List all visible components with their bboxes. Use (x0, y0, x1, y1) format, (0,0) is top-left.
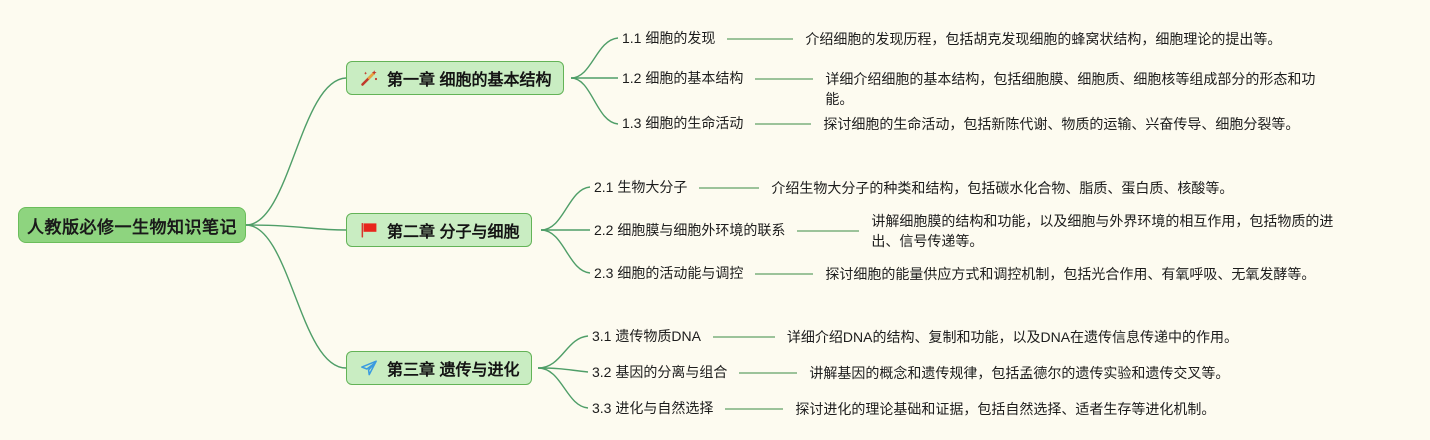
branch-2-3-desc: 探讨细胞的能量供应方式和调控机制，包括光合作用、有氧呼吸、无氧发酵等。 (825, 264, 1365, 284)
branch-3-1-desc: 详细介绍DNA的结构、复制和功能，以及DNA在遗传信息传递中的作用。 (787, 327, 1307, 347)
root-node[interactable]: 人教版必修一生物知识笔记 (18, 207, 246, 243)
branch-3-1[interactable]: 3.1 遗传物质DNA 详细介绍DNA的结构、复制和功能，以及DNA在遗传信息传… (592, 327, 1307, 347)
chapter-node-1-label: 第一章 细胞的基本结构 (387, 66, 551, 90)
branch-2-1-desc: 介绍生物大分子的种类和结构，包括碳水化合物、脂质、蛋白质、核酸等。 (771, 178, 1291, 198)
branch-3-3-label: 3.3 进化与自然选择 (592, 399, 713, 417)
chapter-node-2[interactable]: 第二章 分子与细胞 (346, 213, 532, 247)
branch-1-3[interactable]: 1.3 细胞的生命活动 探讨细胞的生命活动，包括新陈代谢、物质的运输、兴奋传导、… (622, 114, 1363, 134)
link-ch3-b3 (538, 368, 588, 408)
branch-3-3[interactable]: 3.3 进化与自然选择 探讨进化的理论基础和证据，包括自然选择、适者生存等进化机… (592, 399, 1295, 419)
branch-1-1[interactable]: 1.1 细胞的发现 介绍细胞的发现历程，包括胡克发现细胞的蜂窝状结构，细胞理论的… (622, 29, 1345, 49)
chapter-node-1[interactable]: 第一章 细胞的基本结构 (346, 61, 564, 95)
branch-2-2-desc: 讲解细胞膜的结构和功能，以及细胞与外界环境的相互作用，包括物质的进出、信号传递等… (871, 211, 1341, 251)
branch-1-2-desc: 详细介绍细胞的基本结构，包括细胞膜、细胞质、细胞核等组成部分的形态和功能。 (825, 69, 1323, 109)
branch-3-1-connector (713, 327, 775, 345)
branch-1-2-connector (755, 69, 813, 87)
branch-3-2-connector (739, 363, 797, 381)
branch-1-3-label: 1.3 细胞的生命活动 (622, 114, 743, 132)
branch-1-3-connector (755, 114, 811, 132)
magic-wand-icon (359, 68, 379, 88)
branch-2-3-label: 2.3 细胞的活动能与调控 (594, 264, 743, 282)
link-ch3-b1 (538, 336, 588, 368)
branch-1-2[interactable]: 1.2 细胞的基本结构 详细介绍细胞的基本结构，包括细胞膜、细胞质、细胞核等组成… (622, 69, 1323, 109)
link-root-ch3 (246, 225, 346, 368)
link-ch2-b1 (541, 187, 590, 230)
chapter-node-2-label: 第二章 分子与细胞 (387, 218, 519, 242)
link-ch3-b2 (538, 368, 588, 372)
chapter-node-3[interactable]: 第三章 遗传与进化 (346, 351, 532, 385)
link-ch1-b1 (571, 38, 618, 78)
branch-2-1-label: 2.1 生物大分子 (594, 178, 687, 196)
branch-1-2-label: 1.2 细胞的基本结构 (622, 69, 743, 87)
branch-2-1[interactable]: 2.1 生物大分子 介绍生物大分子的种类和结构，包括碳水化合物、脂质、蛋白质、核… (594, 178, 1291, 198)
branch-2-2[interactable]: 2.2 细胞膜与细胞外环境的联系 讲解细胞膜的结构和功能，以及细胞与外界环境的相… (594, 221, 1341, 251)
link-root-ch1 (246, 78, 346, 225)
root-node-label: 人教版必修一生物知识笔记 (27, 213, 237, 238)
branch-3-3-desc: 探讨进化的理论基础和证据，包括自然选择、适者生存等进化机制。 (795, 399, 1295, 419)
link-root-ch2 (246, 225, 346, 230)
branch-1-3-desc: 探讨细胞的生命活动，包括新陈代谢、物质的运输、兴奋传导、细胞分裂等。 (823, 114, 1363, 134)
branch-2-2-label: 2.2 细胞膜与细胞外环境的联系 (594, 221, 785, 239)
branch-1-1-desc: 介绍细胞的发现历程，包括胡克发现细胞的蜂窝状结构，细胞理论的提出等。 (805, 29, 1345, 49)
branch-2-3[interactable]: 2.3 细胞的活动能与调控 探讨细胞的能量供应方式和调控机制，包括光合作用、有氧… (594, 264, 1365, 284)
branch-2-2-connector (797, 221, 859, 239)
branch-2-1-connector (699, 178, 759, 196)
branch-3-1-label: 3.1 遗传物质DNA (592, 327, 701, 345)
link-ch2-b3 (541, 230, 590, 273)
branch-3-2-desc: 讲解基因的概念和遗传规律，包括孟德尔的遗传实验和遗传交叉等。 (809, 363, 1309, 383)
branch-3-2[interactable]: 3.2 基因的分离与组合 讲解基因的概念和遗传规律，包括孟德尔的遗传实验和遗传交… (592, 363, 1309, 383)
branch-3-2-label: 3.2 基因的分离与组合 (592, 363, 727, 381)
branch-1-1-connector (727, 29, 793, 47)
chapter-node-3-label: 第三章 遗传与进化 (387, 356, 519, 380)
paper-plane-icon (359, 358, 379, 378)
branch-2-3-connector (755, 264, 813, 282)
branch-3-3-connector (725, 399, 783, 417)
link-ch1-b3 (571, 78, 618, 124)
mindmap-canvas: 人教版必修一生物知识笔记 第一章 细胞的基本结构 1.1 细胞的发现 介绍细胞的… (0, 0, 1430, 440)
branch-1-1-label: 1.1 细胞的发现 (622, 29, 715, 47)
red-flag-icon (359, 220, 379, 240)
